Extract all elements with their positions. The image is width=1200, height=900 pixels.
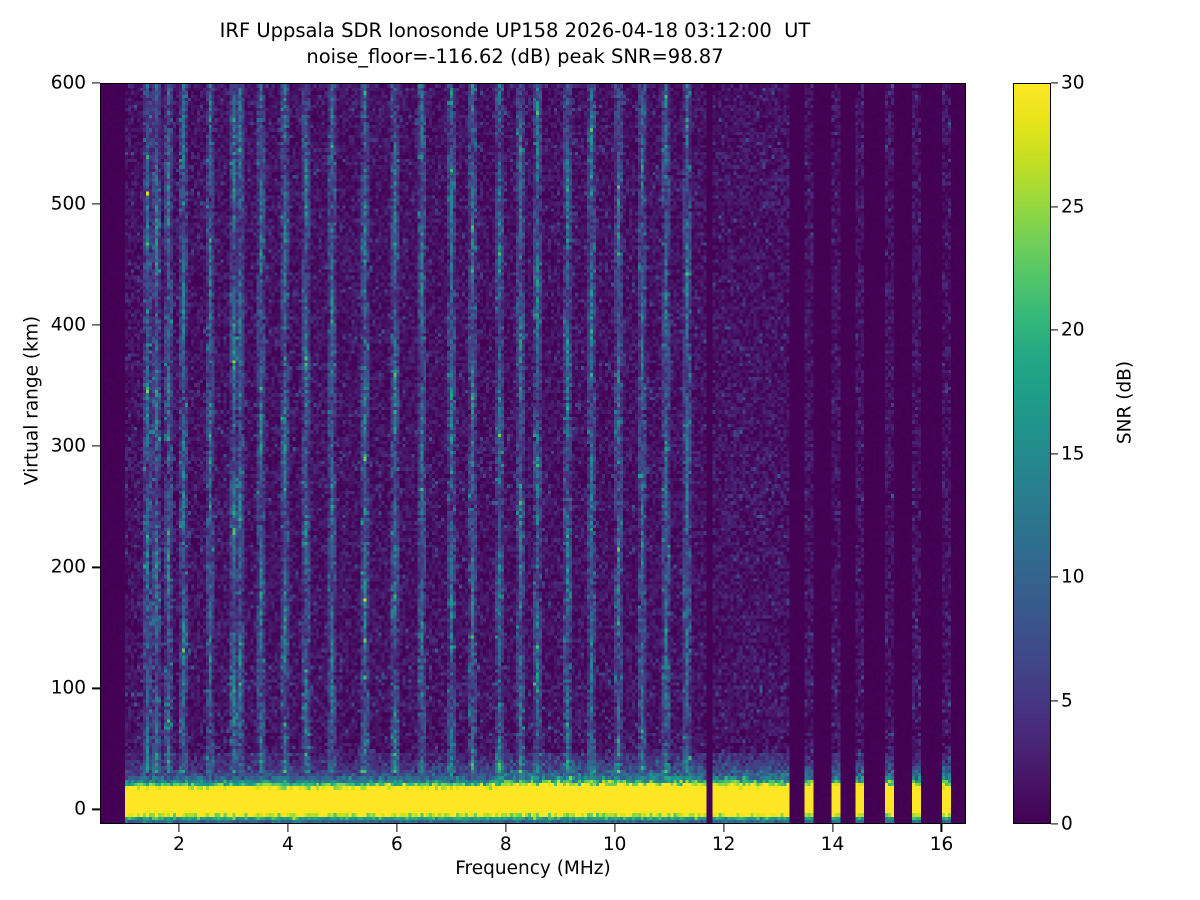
colorbar-tick-label: 0 [1061,814,1073,835]
y-tick-mark [92,446,100,447]
colorbar-tick-mark [1051,576,1058,577]
y-tick-mark [92,325,100,326]
x-tick-mark [723,824,724,832]
y-tick-label: 0 [0,799,86,820]
colorbar-tick-label: 20 [1061,320,1085,341]
y-tick-mark [92,82,100,83]
colorbar-tick-label: 10 [1061,567,1085,588]
x-tick-label: 10 [575,834,655,855]
y-tick-label: 200 [0,557,86,578]
x-tick-label: 8 [466,834,546,855]
colorbar[interactable] [1013,83,1051,824]
x-tick-label: 4 [248,834,328,855]
x-tick-label: 16 [901,834,981,855]
y-tick-mark [92,203,100,204]
y-tick-label: 500 [0,194,86,215]
x-tick-label: 14 [793,834,873,855]
x-tick-mark [941,824,942,832]
x-tick-mark [396,824,397,832]
colorbar-tick-mark [1051,700,1058,701]
x-tick-mark [287,824,288,832]
colorbar-tick-label: 15 [1061,443,1085,464]
x-tick-label: 2 [139,834,219,855]
colorbar-label: SNR (dB) [1115,253,1136,553]
colorbar-tick-mark [1051,453,1058,454]
y-tick-label: 100 [0,678,86,699]
colorbar-tick-label: 30 [1061,73,1085,94]
x-tick-label: 6 [357,834,437,855]
x-axis-label: Frequency (MHz) [100,858,966,879]
x-tick-mark [505,824,506,832]
colorbar-tick-mark [1051,206,1058,207]
y-tick-mark [92,567,100,568]
colorbar-tick-mark [1051,823,1058,824]
colorbar-gradient [1014,84,1050,823]
x-tick-mark [614,824,615,832]
colorbar-tick-label: 5 [1061,690,1073,711]
y-tick-label: 400 [0,315,86,336]
x-tick-label: 12 [684,834,764,855]
y-axis-label: Virtual range (km) [22,51,43,751]
x-tick-mark [832,824,833,832]
x-tick-mark [178,824,179,832]
ionogram-figure: IRF Uppsala SDR Ionosonde UP158 2026-04-… [0,0,1200,900]
y-tick-label: 300 [0,436,86,457]
y-tick-mark [92,809,100,810]
colorbar-tick-mark [1051,329,1058,330]
colorbar-tick-mark [1051,82,1058,83]
colorbar-tick-label: 25 [1061,196,1085,217]
y-tick-label: 600 [0,73,86,94]
y-tick-mark [92,688,100,689]
